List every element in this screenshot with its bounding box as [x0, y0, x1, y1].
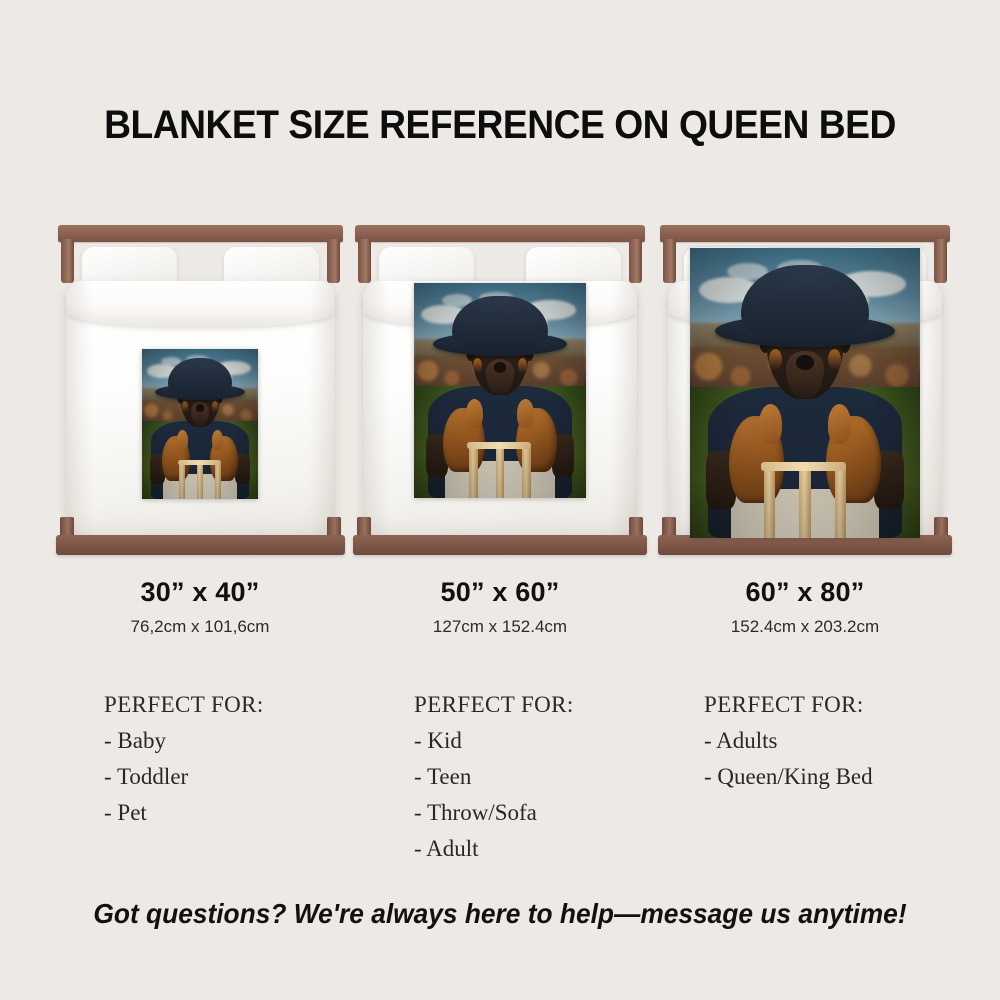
list-item: - Teen: [414, 759, 574, 795]
glove-thumb: [828, 404, 851, 444]
size-inches-label: 60” x 80”: [655, 577, 955, 608]
dog-cheek-left: [182, 401, 188, 412]
perfect-for-list-60x80: PERFECT FOR: - Adults - Queen/King Bed: [704, 687, 873, 795]
list-item: - Adult: [414, 831, 574, 867]
perfect-for-list-50x60: PERFECT FOR: - Kid - Teen - Throw/Sofa -…: [414, 687, 574, 868]
list-item: - Throw/Sofa: [414, 795, 574, 831]
size-reference-page: BLANKET SIZE REFERENCE ON QUEEN BED: [0, 0, 1000, 1000]
cricket-stump: [469, 446, 478, 498]
perfect-for-title: PERFECT FOR:: [414, 687, 574, 723]
footboard-rail: [658, 535, 952, 555]
glove-thumb: [212, 430, 224, 451]
dog-cheek-right: [212, 401, 218, 412]
keeper-glove-left: [729, 416, 784, 503]
headboard-rail: [660, 225, 950, 242]
dog-nose: [196, 404, 205, 412]
keeper-glove-left: [443, 408, 484, 473]
list-item: - Pet: [104, 795, 264, 831]
size-inches-label: 30” x 40”: [50, 577, 350, 608]
dog-cricket-artwork: [414, 283, 586, 498]
cricket-bails: [178, 460, 221, 465]
footer-message: Got questions? We're always here to help…: [30, 898, 970, 930]
dog-cricket-artwork: [142, 349, 258, 499]
bed-mockup-medium: [355, 225, 645, 555]
cricket-bails: [467, 442, 531, 449]
dog-cheek-right: [518, 358, 527, 373]
size-column-50x60: 50” x 60” 127cm x 152.4cm: [350, 225, 650, 637]
size-column-60x80: 60” x 80” 152.4cm x 203.2cm: [655, 225, 955, 637]
headboard-post-right: [934, 239, 947, 283]
keeper-glove-left: [162, 436, 190, 481]
glove-thumb: [517, 399, 534, 429]
cricket-stump: [835, 468, 847, 538]
cricket-stump: [179, 463, 185, 499]
perfect-for-list-30x40: PERFECT FOR: - Baby - Toddler - Pet: [104, 687, 264, 831]
headboard-rail: [355, 225, 645, 242]
bed-mockup-small: [58, 225, 343, 555]
perfect-for-title: PERFECT FOR:: [704, 687, 873, 723]
size-cm-label: 152.4cm x 203.2cm: [655, 617, 955, 637]
headboard-post-right: [629, 239, 642, 283]
footboard-rail: [56, 535, 345, 555]
keeper-glove-right: [826, 416, 881, 503]
list-item: - Toddler: [104, 759, 264, 795]
headboard-post-right: [327, 239, 340, 283]
cricket-stump: [496, 446, 505, 498]
cricket-stump: [215, 463, 221, 499]
size-cm-label: 127cm x 152.4cm: [350, 617, 650, 637]
list-item: - Kid: [414, 723, 574, 759]
list-item: - Baby: [104, 723, 264, 759]
cricket-stump: [799, 468, 811, 538]
headboard-post-left: [61, 239, 74, 283]
dog-cheek-left: [769, 349, 782, 370]
dog-nose: [796, 355, 813, 370]
size-inches-label: 50” x 60”: [350, 577, 650, 608]
dog-cricket-artwork: [690, 248, 920, 538]
cricket-stump: [764, 468, 776, 538]
cricket-stump: [522, 446, 531, 498]
glove-thumb: [466, 399, 483, 429]
blanket-artwork-small: [142, 349, 258, 499]
cricket-bails: [761, 462, 846, 471]
blanket-artwork-large: [690, 248, 920, 538]
bed-mockup-large: [660, 225, 950, 555]
blanket-artwork-medium: [414, 283, 586, 498]
cricket-stump: [197, 463, 203, 499]
size-column-30x40: 30” x 40” 76,2cm x 101,6cm: [50, 225, 350, 637]
dog-cheek-left: [473, 358, 482, 373]
perfect-for-title: PERFECT FOR:: [104, 687, 264, 723]
headboard-rail: [58, 225, 343, 242]
list-item: - Adults: [704, 723, 873, 759]
headboard-post-left: [358, 239, 371, 283]
size-cm-label: 76,2cm x 101,6cm: [50, 617, 350, 637]
glove-thumb: [759, 404, 782, 444]
list-item: - Queen/King Bed: [704, 759, 873, 795]
dog-cheek-right: [828, 349, 841, 370]
footboard-rail: [353, 535, 647, 555]
glove-thumb: [177, 430, 189, 451]
headboard-post-left: [663, 239, 676, 283]
